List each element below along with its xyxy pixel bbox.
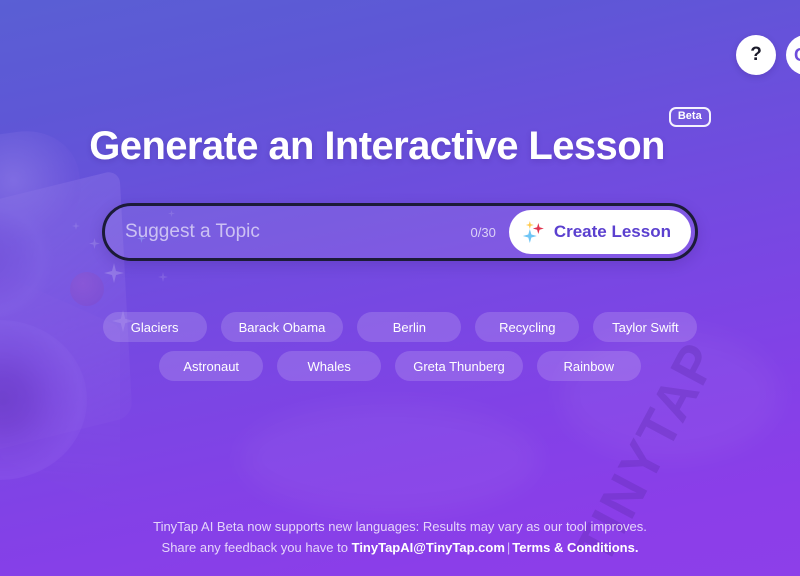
sparkle-star-blue bbox=[523, 229, 537, 243]
main-content: Generate an Interactive Lesson Beta 0/30… bbox=[0, 0, 800, 576]
suggestion-chip[interactable]: Whales bbox=[277, 351, 381, 381]
create-lesson-button[interactable]: Create Lesson bbox=[509, 210, 691, 254]
title-row: Generate an Interactive Lesson Beta bbox=[89, 126, 710, 166]
suggestion-chip[interactable]: Taylor Swift bbox=[593, 312, 697, 342]
suggestion-chip[interactable]: Greta Thunberg bbox=[395, 351, 523, 381]
email-link[interactable]: TinyTapAI@TinyTap.com bbox=[352, 540, 505, 555]
sparkle-icon bbox=[523, 221, 545, 243]
footer: TinyTap AI Beta now supports new languag… bbox=[0, 516, 800, 558]
suggestion-chip[interactable]: Recycling bbox=[475, 312, 579, 342]
beta-badge: Beta bbox=[669, 107, 711, 127]
suggestion-chip[interactable]: Rainbow bbox=[537, 351, 641, 381]
ai-lesson-generator-page: TINYTAP ? C Generate an Interactive Less… bbox=[0, 0, 800, 576]
footer-line-2: Share any feedback you have to TinyTapAI… bbox=[0, 537, 800, 558]
terms-link[interactable]: Terms & Conditions. bbox=[512, 540, 638, 555]
character-counter: 0/30 bbox=[471, 225, 496, 240]
footer-line-1: TinyTap AI Beta now supports new languag… bbox=[0, 516, 800, 537]
sparkle-star-yellow bbox=[526, 221, 534, 229]
suggestion-chip[interactable]: Barack Obama bbox=[221, 312, 344, 342]
page-title: Generate an Interactive Lesson bbox=[89, 126, 665, 166]
suggestion-chip[interactable]: Glaciers bbox=[103, 312, 207, 342]
sparkle-star-red bbox=[533, 223, 544, 234]
prompt-bar[interactable]: 0/30 Create Lesson bbox=[102, 203, 698, 261]
suggestion-chip[interactable]: Astronaut bbox=[159, 351, 263, 381]
footer-feedback-text: Share any feedback you have to bbox=[162, 540, 352, 555]
suggestion-chip[interactable]: Berlin bbox=[357, 312, 461, 342]
create-lesson-label: Create Lesson bbox=[554, 222, 671, 242]
suggestion-chips: GlaciersBarack ObamaBerlinRecyclingTaylo… bbox=[80, 312, 720, 381]
topic-input[interactable] bbox=[121, 221, 471, 243]
